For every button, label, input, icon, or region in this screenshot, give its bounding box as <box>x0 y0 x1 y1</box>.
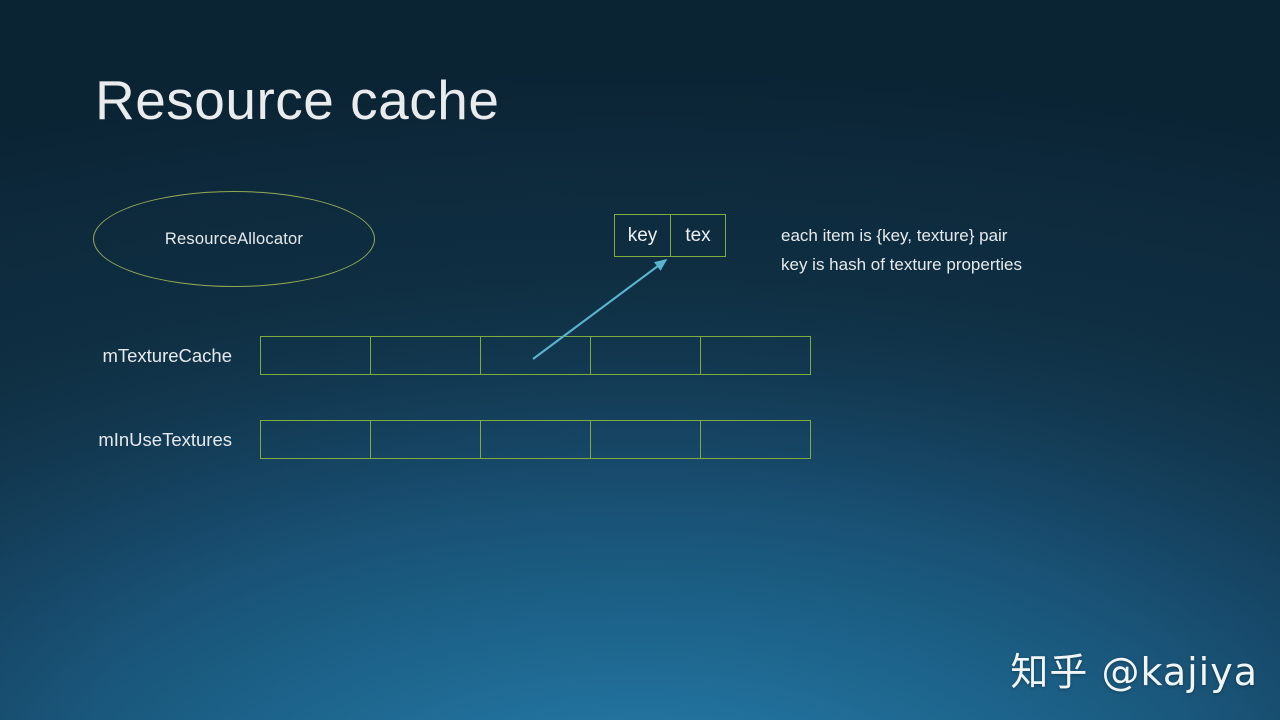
annotation-line-1: each item is {key, texture} pair <box>781 221 1022 250</box>
pair-cell-tex: tex <box>670 215 725 256</box>
in-use-textures-label: mInUseTextures <box>12 429 232 451</box>
pair-cell-key: key <box>615 215 670 256</box>
resource-allocator-node: ResourceAllocator <box>93 191 375 287</box>
table-cell <box>590 421 700 458</box>
table-cell <box>261 421 370 458</box>
pair-annotation: each item is {key, texture} pair key is … <box>781 221 1022 279</box>
table-cell <box>590 337 700 374</box>
table-cell <box>261 337 370 374</box>
table-cell <box>700 337 810 374</box>
table-cell <box>370 337 480 374</box>
texture-cache-label: mTextureCache <box>12 345 232 367</box>
annotation-line-2: key is hash of texture properties <box>781 250 1022 279</box>
texture-cache-array <box>260 336 811 375</box>
key-texture-pair-box: key tex <box>614 214 726 257</box>
watermark: 知乎 @kajiya <box>1010 641 1258 696</box>
page-title: Resource cache <box>95 70 499 131</box>
table-cell <box>370 421 480 458</box>
table-cell <box>700 421 810 458</box>
in-use-textures-array <box>260 420 811 459</box>
resource-allocator-label: ResourceAllocator <box>165 230 303 249</box>
table-cell <box>480 421 590 458</box>
slide-canvas: Resource cache ResourceAllocator key tex… <box>0 0 1280 720</box>
table-cell <box>480 337 590 374</box>
